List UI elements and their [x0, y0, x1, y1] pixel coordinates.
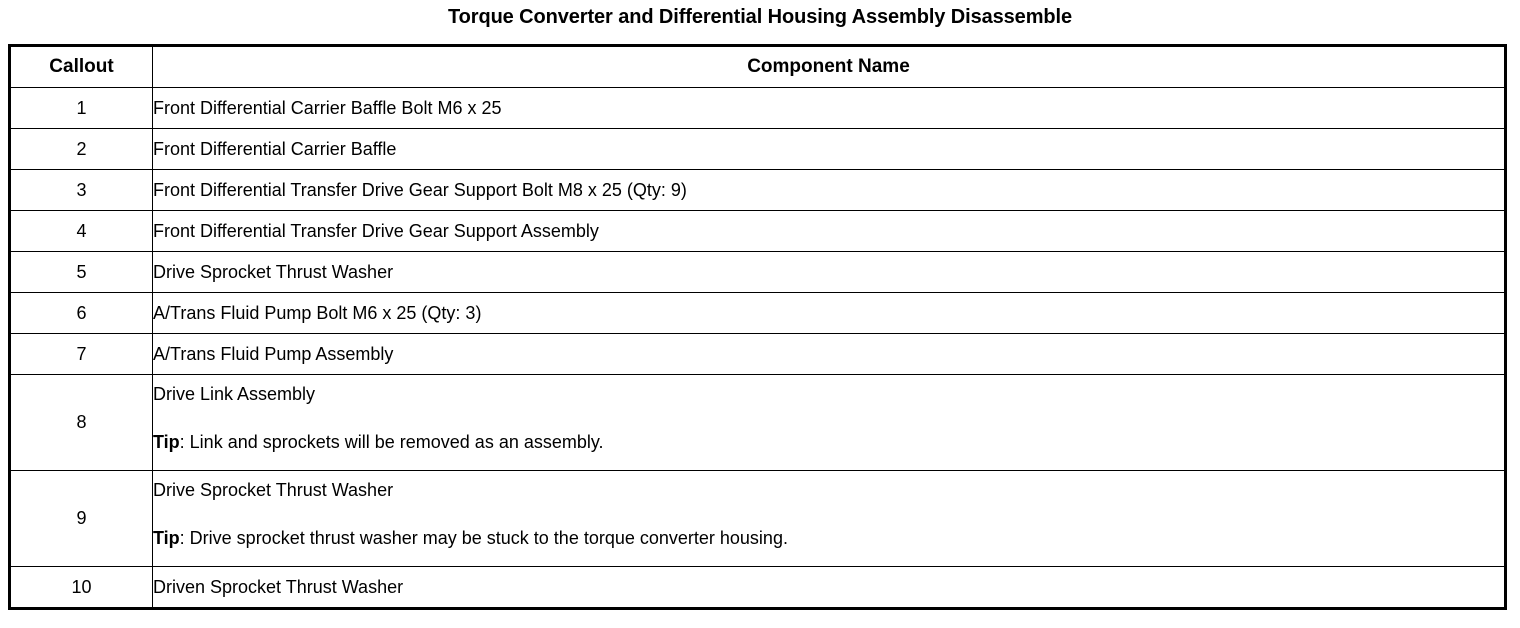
table-row: 6A/Trans Fluid Pump Bolt M6 x 25 (Qty: 3… — [10, 293, 1506, 334]
table-row: 5Drive Sprocket Thrust Washer — [10, 252, 1506, 293]
table-row: 9Drive Sprocket Thrust WasherTip: Drive … — [10, 471, 1506, 567]
component-name-text: Front Differential Carrier Baffle — [153, 138, 1504, 160]
table-row: 8Drive Link AssemblyTip: Link and sprock… — [10, 375, 1506, 471]
column-header-component-name: Component Name — [153, 46, 1506, 88]
component-name-text: A/Trans Fluid Pump Assembly — [153, 343, 1504, 365]
cell-component-name: Driven Sprocket Thrust Washer — [153, 567, 1506, 609]
tip-text: : Link and sprockets will be removed as … — [180, 432, 604, 452]
cell-component-name: Front Differential Transfer Drive Gear S… — [153, 211, 1506, 252]
cell-component-name: A/Trans Fluid Pump Assembly — [153, 334, 1506, 375]
cell-callout: 2 — [10, 129, 153, 170]
tip-text: : Drive sprocket thrust washer may be st… — [180, 528, 788, 548]
component-name-text: Front Differential Carrier Baffle Bolt M… — [153, 97, 1504, 119]
tip-note: Tip: Link and sprockets will be removed … — [153, 405, 1504, 453]
cell-component-name: Front Differential Carrier Baffle Bolt M… — [153, 88, 1506, 129]
cell-component-name: Drive Link AssemblyTip: Link and sprocke… — [153, 375, 1506, 471]
cell-callout: 8 — [10, 375, 153, 471]
table-header-row: Callout Component Name — [10, 46, 1506, 88]
parts-table-container: Callout Component Name 1Front Differenti… — [8, 44, 1507, 610]
page-title: Torque Converter and Differential Housin… — [0, 5, 1520, 29]
cell-component-name: Front Differential Transfer Drive Gear S… — [153, 170, 1506, 211]
parts-table: Callout Component Name 1Front Differenti… — [8, 44, 1507, 610]
table-body: 1Front Differential Carrier Baffle Bolt … — [10, 88, 1506, 609]
component-name-text: A/Trans Fluid Pump Bolt M6 x 25 (Qty: 3) — [153, 302, 1504, 324]
document-page: Torque Converter and Differential Housin… — [0, 0, 1520, 628]
cell-callout: 4 — [10, 211, 153, 252]
component-name-text: Drive Sprocket Thrust Washer — [153, 471, 1504, 501]
cell-callout: 9 — [10, 471, 153, 567]
cell-component-name: Front Differential Carrier Baffle — [153, 129, 1506, 170]
cell-component-name: Drive Sprocket Thrust Washer — [153, 252, 1506, 293]
cell-callout: 3 — [10, 170, 153, 211]
table-row: 10Driven Sprocket Thrust Washer — [10, 567, 1506, 609]
component-name-text: Drive Sprocket Thrust Washer — [153, 261, 1504, 283]
tip-note: Tip: Drive sprocket thrust washer may be… — [153, 501, 1504, 549]
component-name-text: Driven Sprocket Thrust Washer — [153, 576, 1504, 598]
table-row: 7A/Trans Fluid Pump Assembly — [10, 334, 1506, 375]
cell-callout: 7 — [10, 334, 153, 375]
table-row: 3Front Differential Transfer Drive Gear … — [10, 170, 1506, 211]
cell-component-name: A/Trans Fluid Pump Bolt M6 x 25 (Qty: 3) — [153, 293, 1506, 334]
table-header: Callout Component Name — [10, 46, 1506, 88]
tip-label: Tip — [153, 528, 180, 548]
cell-callout: 6 — [10, 293, 153, 334]
cell-callout: 10 — [10, 567, 153, 609]
cell-callout: 5 — [10, 252, 153, 293]
table-row: 1Front Differential Carrier Baffle Bolt … — [10, 88, 1506, 129]
cell-component-name: Drive Sprocket Thrust WasherTip: Drive s… — [153, 471, 1506, 567]
component-name-text: Front Differential Transfer Drive Gear S… — [153, 220, 1504, 242]
tip-label: Tip — [153, 432, 180, 452]
table-row: 2Front Differential Carrier Baffle — [10, 129, 1506, 170]
table-row: 4Front Differential Transfer Drive Gear … — [10, 211, 1506, 252]
column-header-callout: Callout — [10, 46, 153, 88]
component-name-text: Drive Link Assembly — [153, 375, 1504, 405]
cell-callout: 1 — [10, 88, 153, 129]
component-name-text: Front Differential Transfer Drive Gear S… — [153, 179, 1504, 201]
